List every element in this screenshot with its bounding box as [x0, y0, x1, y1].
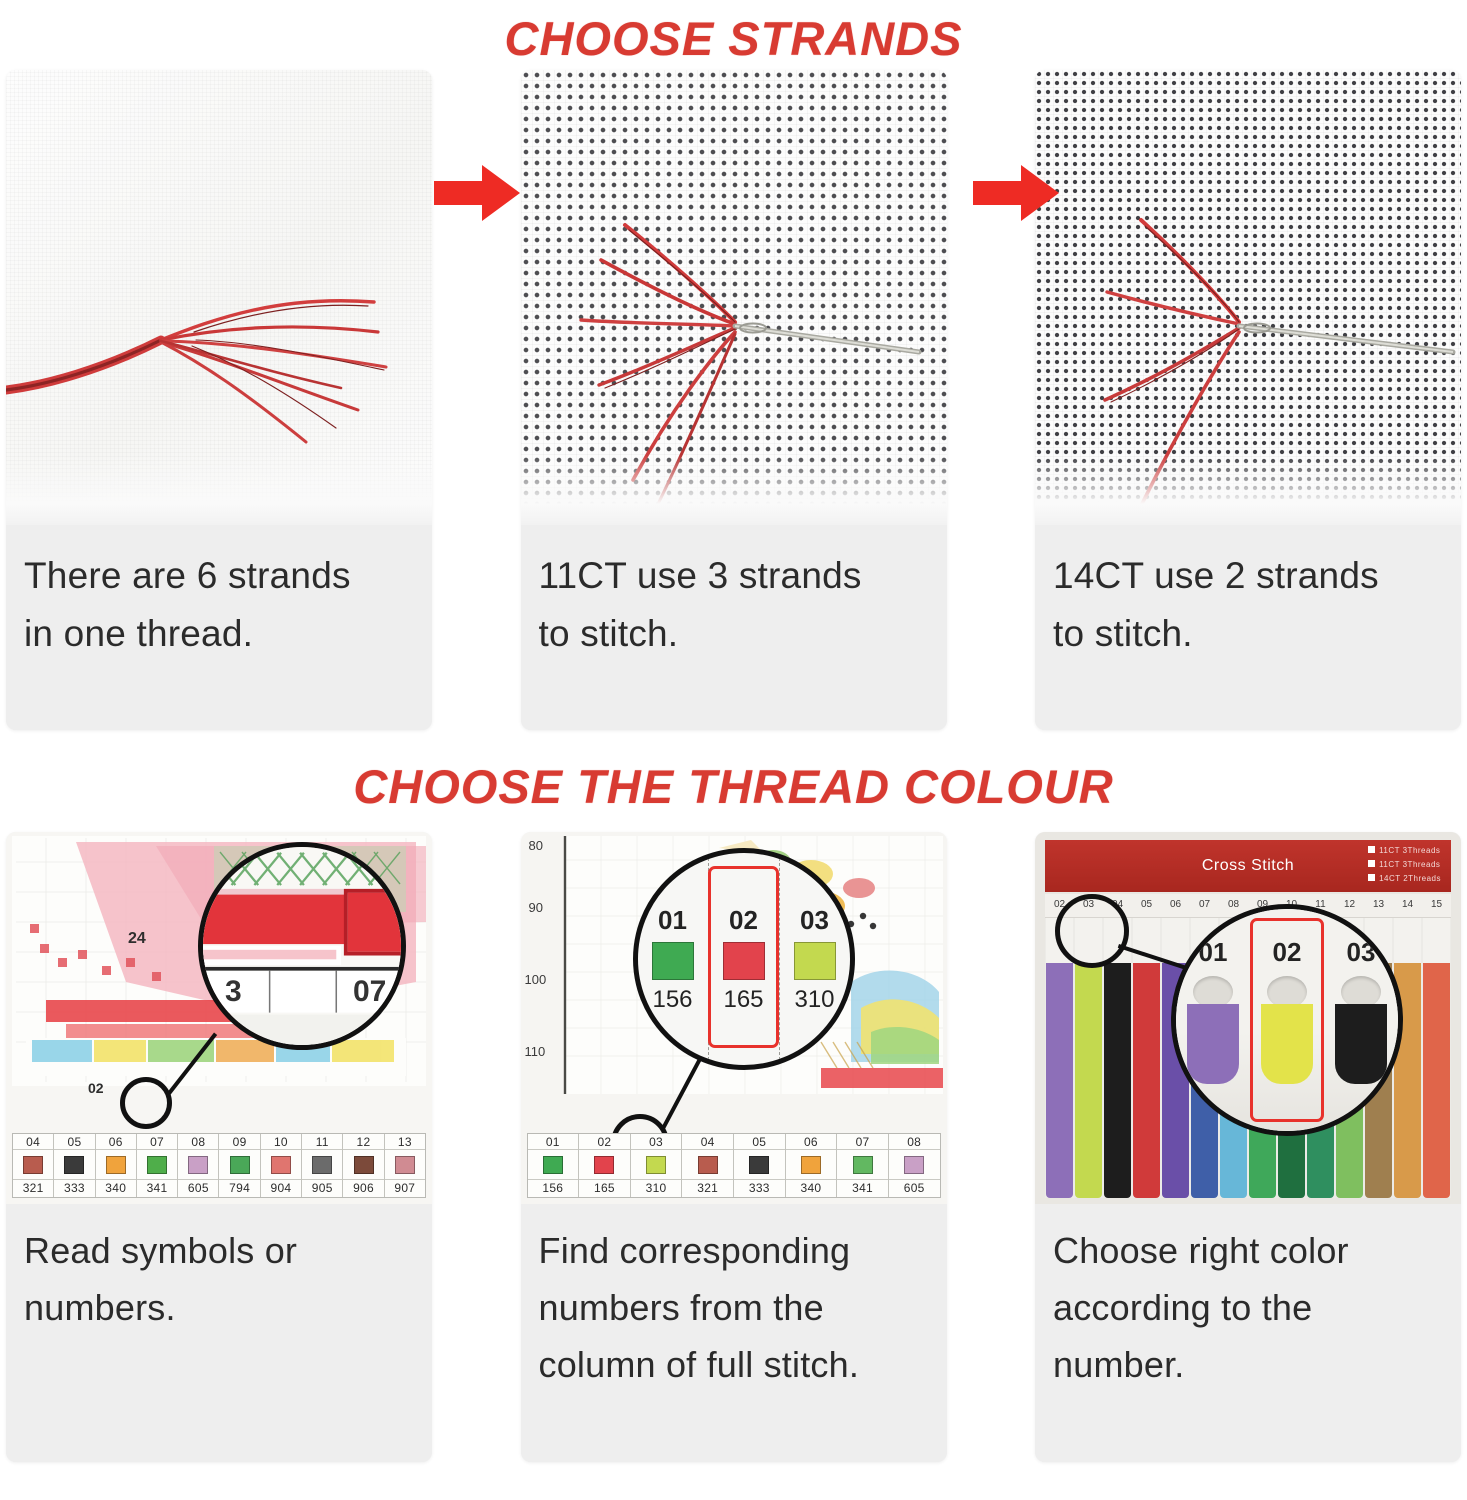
legend-symbol-swatch: [646, 1156, 666, 1174]
legend-thread-code: 906: [343, 1180, 383, 1197]
magnifier-content-left: [203, 847, 401, 1045]
caption-choose-color: Choose right color according to the numb…: [1035, 1204, 1461, 1462]
strand-card-row: There are 6 strands in one thread.: [0, 70, 1467, 740]
legend-symbol: [889, 1150, 940, 1180]
thread-card-option: 14CT 2Threads: [1368, 872, 1441, 886]
magnified-skein-number: 01: [1199, 937, 1228, 968]
card-11ct: 11CT use 3 strands to stitch.: [521, 70, 947, 730]
magnified-skein-cell: 01: [1176, 909, 1250, 1131]
legend-thread-code: 340: [786, 1180, 837, 1197]
card-choose-color: Cross Stitch 11CT 3Threads11CT 3Threads1…: [1035, 832, 1461, 1462]
magnified-skein-cells: 010203: [1176, 909, 1398, 1131]
legend-thread-code: 341: [837, 1180, 888, 1197]
legend-thread-code: 605: [178, 1180, 218, 1197]
photo-six-strands: [6, 70, 432, 525]
thread-card-header: Cross Stitch 11CT 3Threads11CT 3Threads1…: [1045, 840, 1451, 892]
magnifier-large-middle: 011560216503310: [633, 848, 855, 1070]
caption-line-1: 11CT use 3 strands: [539, 547, 929, 605]
legend-number: 09: [219, 1134, 259, 1150]
legend-symbol: [96, 1150, 136, 1180]
legend-symbol-swatch: [543, 1156, 563, 1174]
legend-thread-code: 340: [96, 1180, 136, 1197]
caption-line-2: in one thread.: [24, 605, 414, 663]
thread-card-option: 11CT 3Threads: [1368, 858, 1441, 872]
caption-line-2: numbers from the: [539, 1279, 929, 1336]
legend-symbol: [837, 1150, 888, 1180]
legend-thread-code: 904: [261, 1180, 301, 1197]
skein-thread: [1423, 918, 1450, 1198]
legend-symbol: [13, 1150, 53, 1180]
magnified-legend-cell: 03310: [780, 853, 850, 1065]
caption-read-symbols: Read symbols or numbers.: [6, 1204, 432, 1462]
caption-11ct: 11CT use 3 strands to stitch.: [521, 525, 947, 730]
card-six-strands: There are 6 strands in one thread.: [6, 70, 432, 730]
legend-symbol: [137, 1150, 177, 1180]
legend-column: 08605: [889, 1134, 940, 1197]
legend-symbol-swatch: [853, 1156, 873, 1174]
photo-11ct: [521, 70, 947, 525]
section-heading-choose-strands: CHOOSE STRANDS: [0, 0, 1467, 70]
caption-line-3: column of full stitch.: [539, 1336, 929, 1393]
magnified-skein-number: 03: [1347, 937, 1376, 968]
legend-thread-code: 605: [889, 1180, 940, 1197]
photo-thread-card: Cross Stitch 11CT 3Threads11CT 3Threads1…: [1035, 832, 1461, 1204]
legend-thread-code: 165: [579, 1180, 630, 1197]
legend-symbol-swatch: [801, 1156, 821, 1174]
legend-symbol: [734, 1150, 785, 1180]
legend-symbol: [682, 1150, 733, 1180]
legend-column: 04321: [13, 1134, 54, 1197]
caption-line-1: Choose right color: [1053, 1222, 1443, 1279]
caption-six-strands: There are 6 strands in one thread.: [6, 525, 432, 730]
legend-number: 02: [579, 1134, 630, 1150]
legend-column: 09794: [219, 1134, 260, 1197]
caption-line-2: numbers.: [24, 1279, 414, 1336]
legend-thread-code: 321: [13, 1180, 53, 1197]
legend-number: 07: [837, 1134, 888, 1150]
axis-label-110: 110: [525, 1044, 546, 1059]
legend-symbol-swatch: [395, 1156, 415, 1174]
legend-column: 03310: [631, 1134, 683, 1197]
axis-label-100: 100: [525, 972, 547, 987]
legend-symbol: [528, 1150, 579, 1180]
legend-thread-code: 794: [219, 1180, 259, 1197]
legend-column: 05333: [734, 1134, 786, 1197]
legend-number: 08: [178, 1134, 218, 1150]
legend-thread-code: 907: [385, 1180, 425, 1197]
magnifier-small-circle-right: [1055, 894, 1129, 968]
magnified-legend-code: 165: [723, 986, 763, 1014]
legend-thread-code: 156: [528, 1180, 579, 1197]
thread-card-option: 11CT 3Threads: [1368, 844, 1441, 858]
legend-column: 02165: [579, 1134, 631, 1197]
legend-thread-code: 321: [682, 1180, 733, 1197]
skein-number: 05: [1132, 894, 1161, 917]
legend-symbol-swatch: [594, 1156, 614, 1174]
legend-symbol: [343, 1150, 383, 1180]
magnified-skein-thread: [1335, 1004, 1387, 1084]
legend-column: 01156: [528, 1134, 580, 1197]
magnified-legend-number: 01: [658, 905, 687, 936]
magnified-legend-swatch: [723, 942, 765, 980]
magnified-skein-cell: 02: [1250, 909, 1324, 1131]
magnified-legend-code: 310: [794, 986, 834, 1014]
legend-number: 06: [786, 1134, 837, 1150]
magnified-number-partial: 3: [225, 975, 242, 1009]
legend-number: 04: [682, 1134, 733, 1150]
magnified-legend-swatch: [652, 942, 694, 980]
legend-column: 11905: [302, 1134, 343, 1197]
magnified-legend-number: 02: [729, 905, 758, 936]
legend-column: 06340: [786, 1134, 838, 1197]
axis-label-80: 80: [529, 838, 543, 853]
legend-column: 04321: [682, 1134, 734, 1197]
legend-symbol-swatch: [106, 1156, 126, 1174]
magnified-legend-cell: 02165: [709, 853, 780, 1065]
caption-line-3: number.: [1053, 1336, 1443, 1393]
legend-number: 06: [96, 1134, 136, 1150]
legend-column: 13907: [385, 1134, 425, 1197]
legend-column: 12906: [343, 1134, 384, 1197]
legend-column: 05333: [54, 1134, 95, 1197]
magnifier-small-circle-left: [120, 1077, 172, 1129]
legend-symbol-swatch: [749, 1156, 769, 1174]
magnified-skein-thread: [1261, 1004, 1313, 1084]
legend-number: 05: [734, 1134, 785, 1150]
legend-column: 10904: [261, 1134, 302, 1197]
magnified-skein-number: 02: [1273, 937, 1302, 968]
magnified-legend-swatch: [794, 942, 836, 980]
caption-line-1: There are 6 strands: [24, 547, 414, 605]
photo-pattern-chart-symbols: 24 02: [6, 832, 432, 1204]
legend-number: 04: [13, 1134, 53, 1150]
magnifier-large-right: 010203: [1171, 904, 1403, 1136]
legend-column: 08605: [178, 1134, 219, 1197]
magnified-legend-code: 156: [652, 986, 692, 1014]
magnified-legend-cell: 01156: [638, 853, 709, 1065]
magnifier-large-left: 3 07: [198, 842, 406, 1050]
thread-card-title: Cross Stitch: [1202, 857, 1294, 875]
photo-pattern-chart-numbers: 80 90 100 110 011560216503310 0115602165…: [521, 832, 947, 1204]
legend-number: 11: [302, 1134, 342, 1150]
legend-column: 06340: [96, 1134, 137, 1197]
legend-thread-code: 341: [137, 1180, 177, 1197]
legend-column: 07341: [137, 1134, 178, 1197]
caption-line-2: to stitch.: [539, 605, 929, 663]
thread-card-options: 11CT 3Threads11CT 3Threads14CT 2Threads: [1368, 844, 1441, 886]
photo-bottom-fade: [6, 455, 432, 525]
legend-number: 05: [54, 1134, 94, 1150]
magnified-legend-cells: 011560216503310: [638, 853, 850, 1065]
caption-find-numbers: Find corresponding numbers from the colu…: [521, 1204, 947, 1462]
legend-number: 03: [631, 1134, 682, 1150]
legend-table-left: 0432105333063400734108605097941090411905…: [12, 1133, 426, 1198]
legend-symbol-swatch: [230, 1156, 250, 1174]
legend-symbol: [302, 1150, 342, 1180]
legend-symbol: [786, 1150, 837, 1180]
caption-line-1: 14CT use 2 strands: [1053, 547, 1443, 605]
axis-label-90: 90: [529, 900, 543, 915]
legend-table-middle: 0115602165033100432105333063400734108605: [527, 1133, 941, 1198]
caption-line-2: to stitch.: [1053, 605, 1443, 663]
card-14ct: 14CT use 2 strands to stitch.: [1035, 70, 1461, 730]
legend-symbol-swatch: [354, 1156, 374, 1174]
magnified-number-07: 07: [353, 975, 386, 1009]
legend-symbol: [579, 1150, 630, 1180]
legend-thread-code: 333: [734, 1180, 785, 1197]
legend-symbol-swatch: [698, 1156, 718, 1174]
legend-symbol-swatch: [271, 1156, 291, 1174]
caption-line-1: Find corresponding: [539, 1222, 929, 1279]
legend-symbol-swatch: [147, 1156, 167, 1174]
legend-number: 10: [261, 1134, 301, 1150]
section-heading-choose-thread-colour: CHOOSE THE THREAD COLOUR: [0, 752, 1467, 826]
card-read-symbols: 24 02: [6, 832, 432, 1462]
photo-bottom-fade: [1035, 455, 1461, 525]
arrow-right-icon-1: [434, 162, 520, 224]
skein-thread: [1394, 918, 1421, 1198]
legend-thread-code: 905: [302, 1180, 342, 1197]
legend-number: 12: [343, 1134, 383, 1150]
legend-number: 01: [528, 1134, 579, 1150]
legend-symbol-swatch: [188, 1156, 208, 1174]
legend-symbol-swatch: [23, 1156, 43, 1174]
caption-line-2: according to the: [1053, 1279, 1443, 1336]
legend-symbol: [261, 1150, 301, 1180]
caption-line-1: Read symbols or: [24, 1222, 414, 1279]
legend-thread-code: 310: [631, 1180, 682, 1197]
legend-number: 07: [137, 1134, 177, 1150]
photo-bottom-fade: [521, 455, 947, 525]
skein-number: 15: [1422, 894, 1451, 917]
legend-symbol: [385, 1150, 425, 1180]
legend-symbol: [219, 1150, 259, 1180]
magnified-legend-number: 03: [800, 905, 829, 936]
legend-thread-code: 333: [54, 1180, 94, 1197]
magnified-skein-cell: 03: [1324, 909, 1398, 1131]
legend-symbol: [54, 1150, 94, 1180]
caption-14ct: 14CT use 2 strands to stitch.: [1035, 525, 1461, 730]
chart-marker-24: 24: [128, 930, 146, 948]
legend-symbol: [178, 1150, 218, 1180]
legend-symbol-swatch: [904, 1156, 924, 1174]
magnified-skein-thread: [1187, 1004, 1239, 1084]
arrow-right-icon-2: [973, 162, 1059, 224]
legend-number: 08: [889, 1134, 940, 1150]
card-find-numbers: 80 90 100 110 011560216503310 0115602165…: [521, 832, 947, 1462]
legend-number: 13: [385, 1134, 425, 1150]
legend-column: 07341: [837, 1134, 889, 1197]
chart-marker-02: 02: [88, 1080, 104, 1096]
legend-symbol: [631, 1150, 682, 1180]
legend-symbol-swatch: [64, 1156, 84, 1174]
colour-card-row: 24 02: [0, 832, 1467, 1472]
legend-symbol-swatch: [312, 1156, 332, 1174]
photo-14ct: [1035, 70, 1461, 525]
